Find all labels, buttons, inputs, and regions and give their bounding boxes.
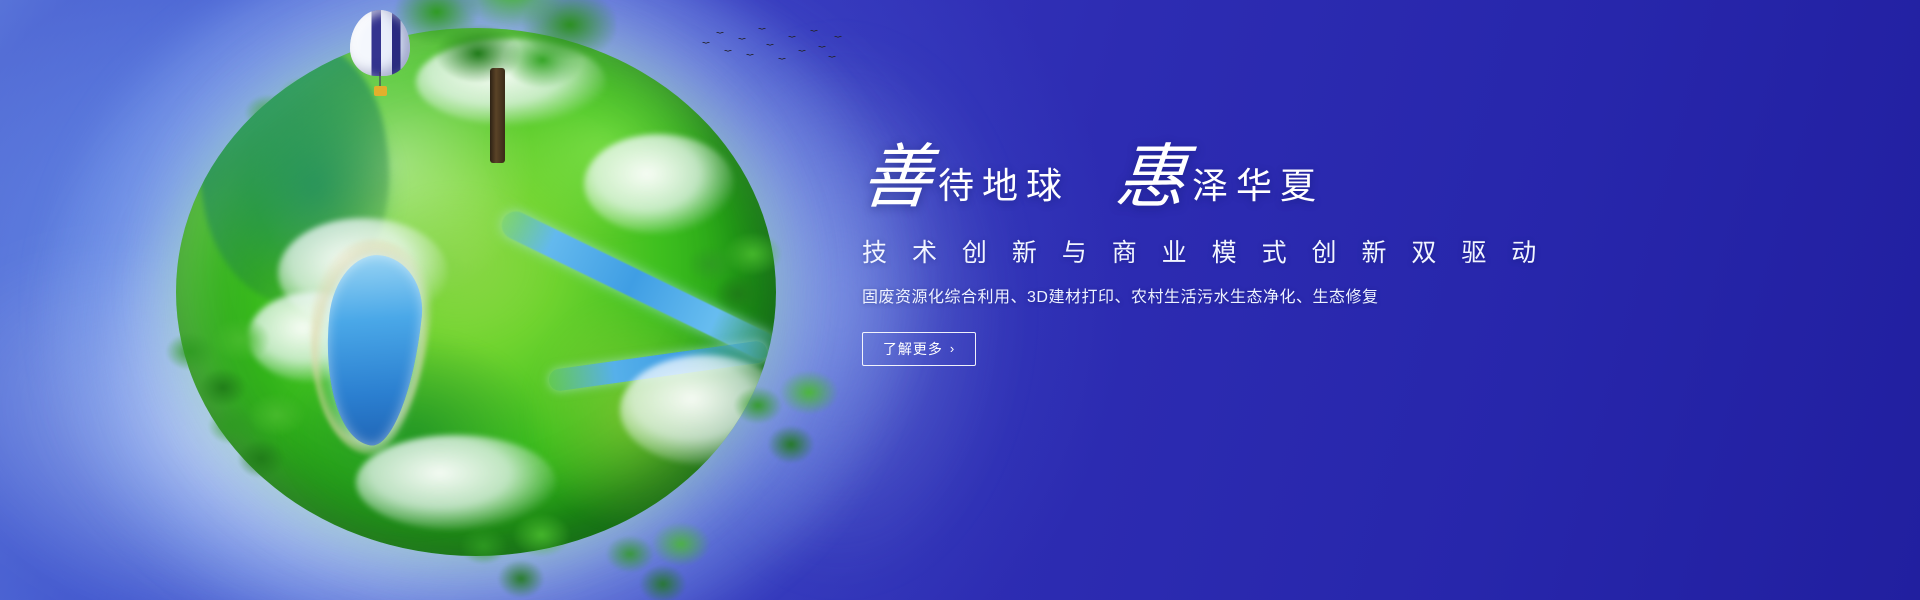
birds-flock-icon <box>703 24 843 70</box>
headline-part2-small: 泽华夏 <box>1192 168 1324 212</box>
tree-icon <box>678 226 798 326</box>
tree-icon <box>716 356 866 486</box>
tree-icon <box>196 384 326 494</box>
banner-subtitle: 技 术 创 新 与 商 业 模 式 创 新 双 驱 动 <box>862 238 1862 269</box>
headline: 善 待地球 惠 泽华夏 <box>862 128 1862 212</box>
headline-part1-large: 善 <box>859 145 935 212</box>
tree-icon <box>436 504 606 600</box>
headline-part2-large: 惠 <box>1113 145 1189 212</box>
hot-air-balloon-icon <box>350 10 410 102</box>
learn-more-button[interactable]: 了解更多 › <box>862 332 976 366</box>
hero-banner: 善 待地球 惠 泽华夏 技 术 创 新 与 商 业 模 式 创 新 双 驱 动 … <box>0 0 1920 600</box>
tree-icon <box>588 516 738 600</box>
large-tree-icon <box>386 0 616 163</box>
headline-part1-small: 待地球 <box>938 168 1070 212</box>
globe-illustration <box>118 0 838 600</box>
chevron-right-icon: › <box>950 342 955 355</box>
banner-description: 固废资源化综合利用、3D建材打印、农村生活污水生态净化、生态修复 <box>862 287 1862 309</box>
banner-copy: 善 待地球 惠 泽华夏 技 术 创 新 与 商 业 模 式 创 新 双 驱 动 … <box>862 128 1862 366</box>
learn-more-button-label: 了解更多 <box>883 339 943 359</box>
